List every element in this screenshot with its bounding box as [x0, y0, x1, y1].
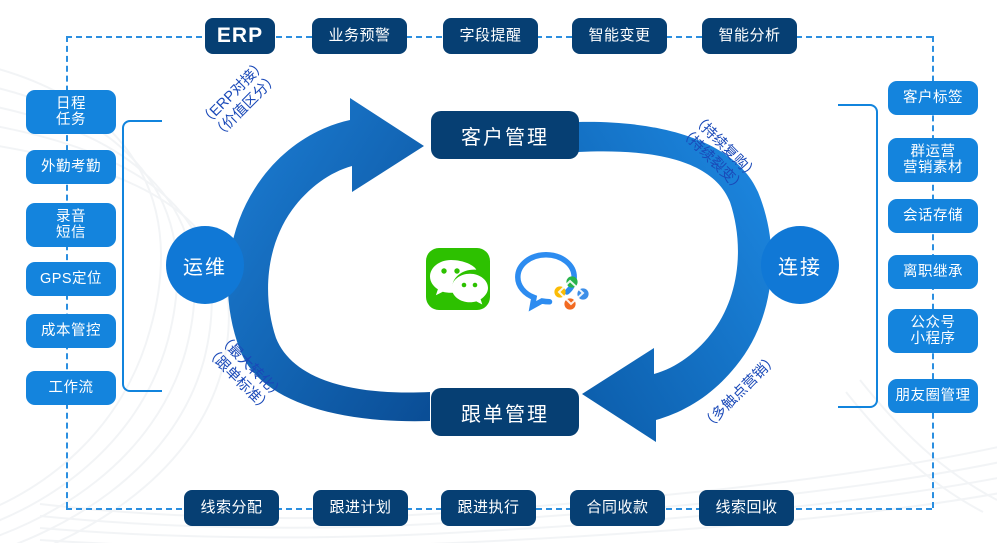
right-box-group-operation[interactable]: 群运营 营销素材: [888, 138, 978, 182]
left-box-workflow-label: 工作流: [49, 380, 94, 396]
center-logos: [424, 244, 602, 314]
bottom-box-lead-recycle-label: 线索回收: [715, 500, 777, 517]
circle-operations-label: 运维: [183, 251, 227, 280]
left-box-recording-sms-line1: 录音: [56, 209, 86, 225]
bottom-box-contract-payment-label: 合同收款: [586, 500, 648, 517]
hub-customer-management[interactable]: 客户管理: [431, 111, 579, 159]
hub-customer-management-label: 客户管理: [461, 121, 549, 150]
right-box-session-storage-label: 会话存储: [903, 208, 963, 224]
right-box-official-account-miniprogram-line2: 小程序: [911, 331, 956, 347]
right-box-resignation-inheritance[interactable]: 离职继承: [888, 255, 978, 289]
right-box-group-operation-line1: 群运营: [911, 144, 956, 160]
right-box-official-account-miniprogram[interactable]: 公众号 小程序: [888, 309, 978, 353]
top-box-smart-change[interactable]: 智能变更: [572, 18, 667, 54]
right-box-group-operation-line2: 营销素材: [903, 160, 963, 176]
left-box-cost-control-label: 成本管控: [41, 323, 101, 339]
top-box-field-reminder-label: 字段提醒: [459, 28, 521, 45]
diagram-canvas: 客户管理 跟单管理 （ERP对接） （价值区分）: [0, 0, 997, 543]
right-box-customer-tag[interactable]: 客户标签: [888, 81, 978, 115]
circle-operations[interactable]: 运维: [166, 226, 244, 304]
left-box-gps-location-label: GPS定位: [40, 271, 102, 287]
top-box-erp[interactable]: ERP: [205, 18, 275, 54]
bottom-box-follow-plan[interactable]: 跟进计划: [313, 490, 408, 526]
left-box-field-attendance[interactable]: 外勤考勤: [26, 150, 116, 184]
left-box-schedule-task[interactable]: 日程 任务: [26, 90, 116, 134]
left-box-schedule-task-line2: 任务: [56, 112, 86, 128]
wecom-logo: [518, 255, 589, 310]
left-box-field-attendance-label: 外勤考勤: [41, 159, 101, 175]
right-box-customer-tag-label: 客户标签: [903, 90, 963, 106]
top-box-erp-label: ERP: [217, 24, 263, 48]
top-box-business-alert-label: 业务预警: [328, 28, 390, 45]
circle-connection[interactable]: 连接: [761, 226, 839, 304]
left-box-cost-control[interactable]: 成本管控: [26, 314, 116, 348]
bottom-box-lead-assignment-label: 线索分配: [200, 500, 262, 517]
right-box-moments-management[interactable]: 朋友圈管理: [888, 379, 978, 413]
top-box-smart-change-label: 智能变更: [588, 28, 650, 45]
bottom-box-follow-plan-label: 跟进计划: [329, 500, 391, 517]
left-box-schedule-task-line1: 日程: [56, 96, 86, 112]
top-box-field-reminder[interactable]: 字段提醒: [443, 18, 538, 54]
left-box-gps-location[interactable]: GPS定位: [26, 262, 116, 296]
left-box-workflow[interactable]: 工作流: [26, 371, 116, 405]
left-box-recording-sms[interactable]: 录音 短信: [26, 203, 116, 247]
top-box-smart-analysis-label: 智能分析: [718, 28, 780, 45]
bottom-box-follow-execution[interactable]: 跟进执行: [441, 490, 536, 526]
bottom-box-follow-execution-label: 跟进执行: [457, 500, 519, 517]
hub-order-management-label: 跟单管理: [461, 398, 549, 427]
bottom-box-lead-assignment[interactable]: 线索分配: [184, 490, 279, 526]
right-box-moments-management-label: 朋友圈管理: [896, 388, 971, 404]
wechat-logo: [426, 248, 490, 310]
top-box-business-alert[interactable]: 业务预警: [312, 18, 407, 54]
hub-order-management[interactable]: 跟单管理: [431, 388, 579, 436]
right-box-session-storage[interactable]: 会话存储: [888, 199, 978, 233]
circle-connection-label: 连接: [778, 251, 822, 280]
top-box-smart-analysis[interactable]: 智能分析: [702, 18, 797, 54]
right-box-official-account-miniprogram-line1: 公众号: [911, 315, 956, 331]
left-box-recording-sms-line2: 短信: [56, 225, 86, 241]
right-box-resignation-inheritance-label: 离职继承: [903, 264, 963, 280]
bottom-box-lead-recycle[interactable]: 线索回收: [699, 490, 794, 526]
bottom-box-contract-payment[interactable]: 合同收款: [570, 490, 665, 526]
